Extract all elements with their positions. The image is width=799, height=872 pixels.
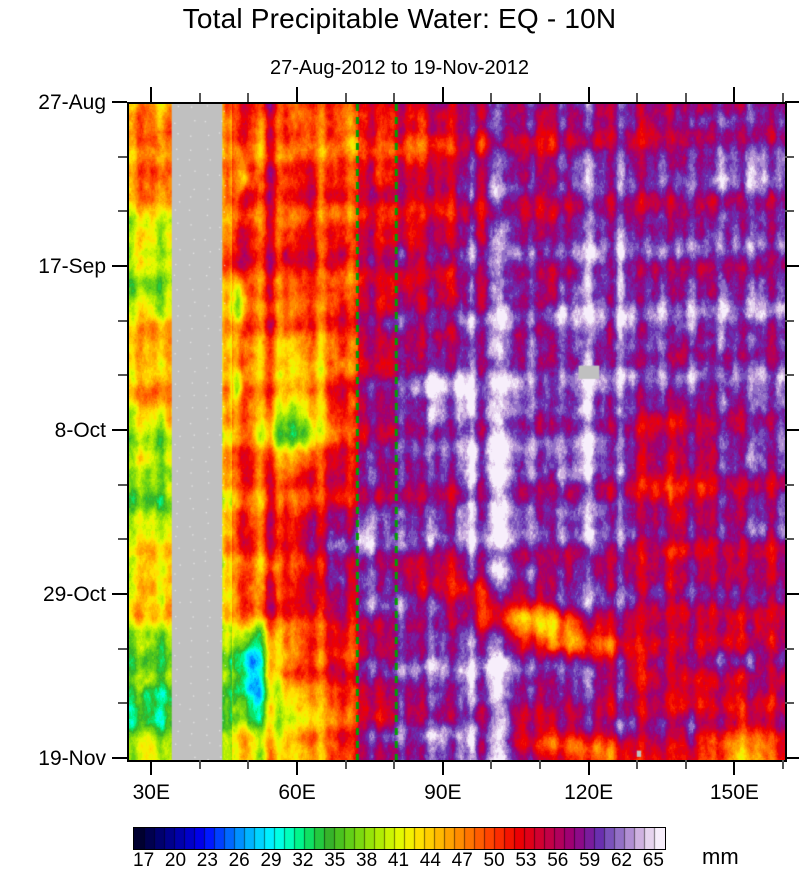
y-tick-label: 27-Aug <box>0 92 106 113</box>
y-tick-minor-right <box>785 374 794 376</box>
y-tick-major <box>112 757 127 759</box>
colorbar <box>133 827 666 850</box>
x-tick-minor-top <box>636 93 638 102</box>
y-tick-major-right <box>785 757 799 759</box>
x-tick-major <box>296 760 298 775</box>
y-tick-major <box>112 593 127 595</box>
x-tick-minor <box>636 760 638 769</box>
colorbar-tick-labels: 1720232629323538414447505356596265 <box>133 850 664 872</box>
y-tick-major <box>112 101 127 103</box>
x-tick-minor-top <box>247 93 249 102</box>
y-tick-major-right <box>785 101 799 103</box>
x-tick-major-top <box>442 87 444 102</box>
x-tick-major <box>733 760 735 775</box>
x-tick-major <box>150 760 152 775</box>
y-tick-minor <box>118 374 127 376</box>
x-tick-minor <box>393 760 395 769</box>
y-tick-minor <box>118 484 127 486</box>
y-tick-major <box>112 429 127 431</box>
x-tick-label: 150E <box>689 782 779 803</box>
y-tick-minor <box>118 648 127 650</box>
y-tick-label: 8-Oct <box>0 420 106 441</box>
y-tick-minor-right <box>785 320 794 322</box>
x-tick-minor-top <box>199 93 201 102</box>
y-tick-minor-right <box>785 538 794 540</box>
x-tick-label: 120E <box>544 782 634 803</box>
hovmoller-plot-frame <box>127 102 787 762</box>
x-tick-major <box>588 760 590 775</box>
x-tick-minor <box>685 760 687 769</box>
y-tick-label: 17-Sep <box>0 256 106 277</box>
x-tick-label: 60E <box>252 782 342 803</box>
y-tick-major-right <box>785 429 799 431</box>
y-tick-minor-right <box>785 210 794 212</box>
x-tick-major-top <box>150 87 152 102</box>
y-tick-minor-right <box>785 484 794 486</box>
x-tick-minor-top <box>782 93 784 102</box>
colorbar-unit-label: mm <box>702 845 739 869</box>
x-tick-minor <box>199 760 201 769</box>
x-tick-minor <box>539 760 541 769</box>
hovmoller-heatmap-canvas <box>129 104 785 760</box>
x-tick-label: 90E <box>398 782 488 803</box>
y-tick-minor <box>118 210 127 212</box>
y-tick-major-right <box>785 593 799 595</box>
page-subtitle: 27-Aug-2012 to 19-Nov-2012 <box>0 56 799 80</box>
y-tick-label: 29-Oct <box>0 584 106 605</box>
x-tick-minor <box>247 760 249 769</box>
y-tick-major-right <box>785 265 799 267</box>
x-tick-major-top <box>733 87 735 102</box>
x-tick-label: 30E <box>106 782 196 803</box>
x-tick-major-top <box>296 87 298 102</box>
x-tick-major <box>442 760 444 775</box>
x-tick-minor-top <box>393 93 395 102</box>
y-tick-minor <box>118 320 127 322</box>
y-tick-minor-right <box>785 702 794 704</box>
x-tick-minor-top <box>345 93 347 102</box>
y-tick-minor-right <box>785 648 794 650</box>
page-title: Total Precipitable Water: EQ - 10N <box>0 2 799 36</box>
y-tick-major <box>112 265 127 267</box>
colorbar-canvas <box>134 828 665 849</box>
x-tick-minor <box>345 760 347 769</box>
colorbar-tick-label: 65 <box>633 850 673 871</box>
x-tick-major-top <box>588 87 590 102</box>
x-tick-minor <box>490 760 492 769</box>
x-tick-minor-top <box>685 93 687 102</box>
x-tick-minor <box>782 760 784 769</box>
y-tick-minor <box>118 702 127 704</box>
y-tick-minor <box>118 156 127 158</box>
y-tick-minor-right <box>785 156 794 158</box>
y-tick-label: 19-Nov <box>0 748 106 769</box>
x-tick-minor-top <box>490 93 492 102</box>
y-tick-minor <box>118 538 127 540</box>
x-tick-minor-top <box>539 93 541 102</box>
